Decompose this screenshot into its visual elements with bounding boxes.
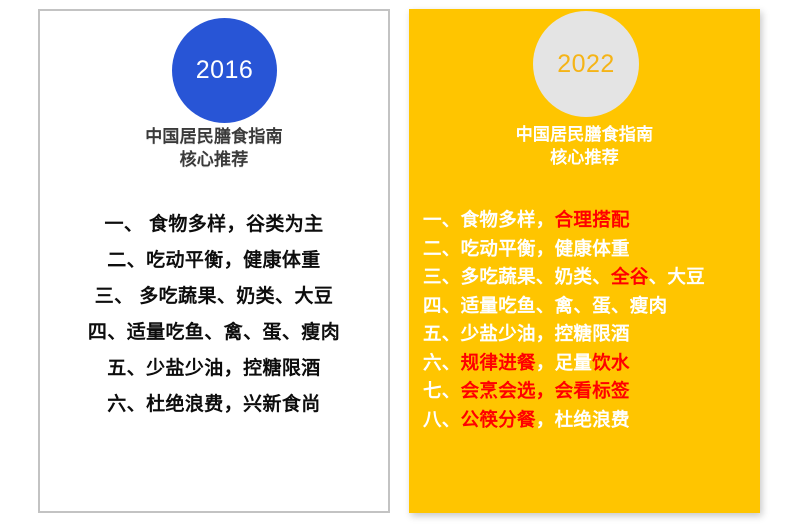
list-item: 五、少盐少油，控糖限酒 — [40, 351, 388, 387]
list-item-index: 三、 — [423, 266, 461, 287]
recommendation-list-2022: 一、食物多样，合理搭配二、吃动平衡，健康体重三、多吃蔬果、奶类、全谷、大豆四、适… — [423, 206, 760, 434]
panel-title-line2-2016: 核心推荐 — [40, 148, 388, 171]
list-item: 四、适量吃鱼、禽、蛋、瘦肉 — [40, 315, 388, 351]
list-item-text-segment: 、大豆 — [649, 266, 705, 287]
list-item-index: 一、 — [104, 214, 143, 235]
list-item-text-segment: 食物多样，谷类为主 — [143, 214, 323, 235]
panel-2016: 2016 中国居民膳食指南 核心推荐 一、 食物多样，谷类为主二、吃动平衡，健康… — [38, 9, 390, 513]
slide-canvas: 2016 中国居民膳食指南 核心推荐 一、 食物多样，谷类为主二、吃动平衡，健康… — [0, 0, 800, 525]
list-item-text-segment: 公筷分餐 — [461, 409, 536, 430]
list-item: 七、会烹会选，会看标签 — [423, 377, 760, 406]
panel-title-2022: 中国居民膳食指南 核心推荐 — [409, 123, 760, 169]
list-item-index: 二、 — [107, 250, 146, 271]
list-item-text-segment: 吃动平衡，健康体重 — [146, 250, 321, 271]
list-item: 一、食物多样，合理搭配 — [423, 206, 760, 235]
list-item-index: 六、 — [107, 394, 146, 415]
list-item: 二、吃动平衡，健康体重 — [423, 235, 760, 264]
panel-title-line1-2016: 中国居民膳食指南 — [145, 127, 283, 146]
list-item-index: 二、 — [423, 238, 461, 259]
list-item-index: 三、 — [95, 286, 134, 307]
list-item: 五、少盐少油，控糖限酒 — [423, 320, 760, 349]
list-item-text-segment: 杜绝浪费，兴新食尚 — [146, 394, 321, 415]
year-badge-2016: 2016 — [172, 18, 277, 123]
list-item-text-segment: 吃动平衡，健康体重 — [461, 238, 630, 259]
panel-title-line2-2022: 核心推荐 — [409, 146, 760, 169]
list-item-text-segment: ，杜绝浪费 — [536, 409, 630, 430]
panel-title-2016: 中国居民膳食指南 核心推荐 — [40, 125, 388, 171]
list-item-index: 七、 — [423, 380, 461, 401]
list-item-index: 五、 — [423, 323, 461, 344]
year-badge-2022: 2022 — [533, 11, 639, 117]
list-item-text-segment: 饮水 — [592, 352, 630, 373]
list-item-text-segment: 多吃蔬果、奶类、 — [461, 266, 611, 287]
list-item-text-segment: 少盐少油，控糖限酒 — [461, 323, 630, 344]
list-item-index: 四、 — [88, 322, 127, 343]
panel-title-line1-2022: 中国居民膳食指南 — [516, 125, 654, 144]
list-item-text-segment: ，足量 — [536, 352, 592, 373]
year-badge-label-2016: 2016 — [196, 58, 254, 83]
list-item-text-segment: 多吃蔬果、奶类、大豆 — [134, 286, 334, 307]
list-item-index: 一、 — [423, 209, 461, 230]
list-item: 四、适量吃鱼、禽、蛋、瘦肉 — [423, 292, 760, 321]
list-item-text-segment: 规律进餐 — [461, 352, 536, 373]
list-item: 三、多吃蔬果、奶类、全谷、大豆 — [423, 263, 760, 292]
list-item-text-segment: 全谷 — [611, 266, 649, 287]
list-item-index: 八、 — [423, 409, 461, 430]
list-item-text-segment: 适量吃鱼、禽、蛋、瘦肉 — [127, 322, 340, 343]
list-item: 三、 多吃蔬果、奶类、大豆 — [40, 279, 388, 315]
list-item-text-segment: 会烹会选，会看标签 — [461, 380, 630, 401]
list-item: 六、杜绝浪费，兴新食尚 — [40, 387, 388, 423]
list-item-index: 五、 — [107, 358, 146, 379]
list-item: 二、吃动平衡，健康体重 — [40, 243, 388, 279]
list-item: 八、公筷分餐，杜绝浪费 — [423, 406, 760, 435]
year-badge-label-2022: 2022 — [557, 52, 615, 77]
list-item-index: 四、 — [423, 295, 461, 316]
list-item-index: 六、 — [423, 352, 461, 373]
list-item: 六、规律进餐，足量饮水 — [423, 349, 760, 378]
list-item-text-segment: 合理搭配 — [555, 209, 630, 230]
list-item-text-segment: 适量吃鱼、禽、蛋、瘦肉 — [461, 295, 668, 316]
list-item-text-segment: 食物多样， — [461, 209, 555, 230]
panel-2022: 2022 中国居民膳食指南 核心推荐 一、食物多样，合理搭配二、吃动平衡，健康体… — [409, 9, 760, 513]
recommendation-list-2016: 一、 食物多样，谷类为主二、吃动平衡，健康体重三、 多吃蔬果、奶类、大豆四、适量… — [40, 207, 388, 423]
list-item-text-segment: 少盐少油，控糖限酒 — [146, 358, 321, 379]
list-item: 一、 食物多样，谷类为主 — [40, 207, 388, 243]
